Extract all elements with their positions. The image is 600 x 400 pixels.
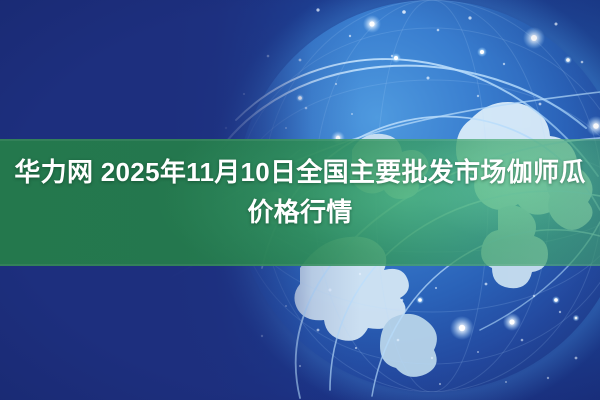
- title-band-top-edge: [0, 139, 600, 141]
- title-band-bottom-edge: [0, 264, 600, 266]
- banner-headline: 华力网 2025年11月10日全国主要批发市场伽师瓜价格行情: [0, 152, 600, 232]
- banner-image: 华力网 2025年11月10日全国主要批发市场伽师瓜价格行情: [0, 0, 600, 400]
